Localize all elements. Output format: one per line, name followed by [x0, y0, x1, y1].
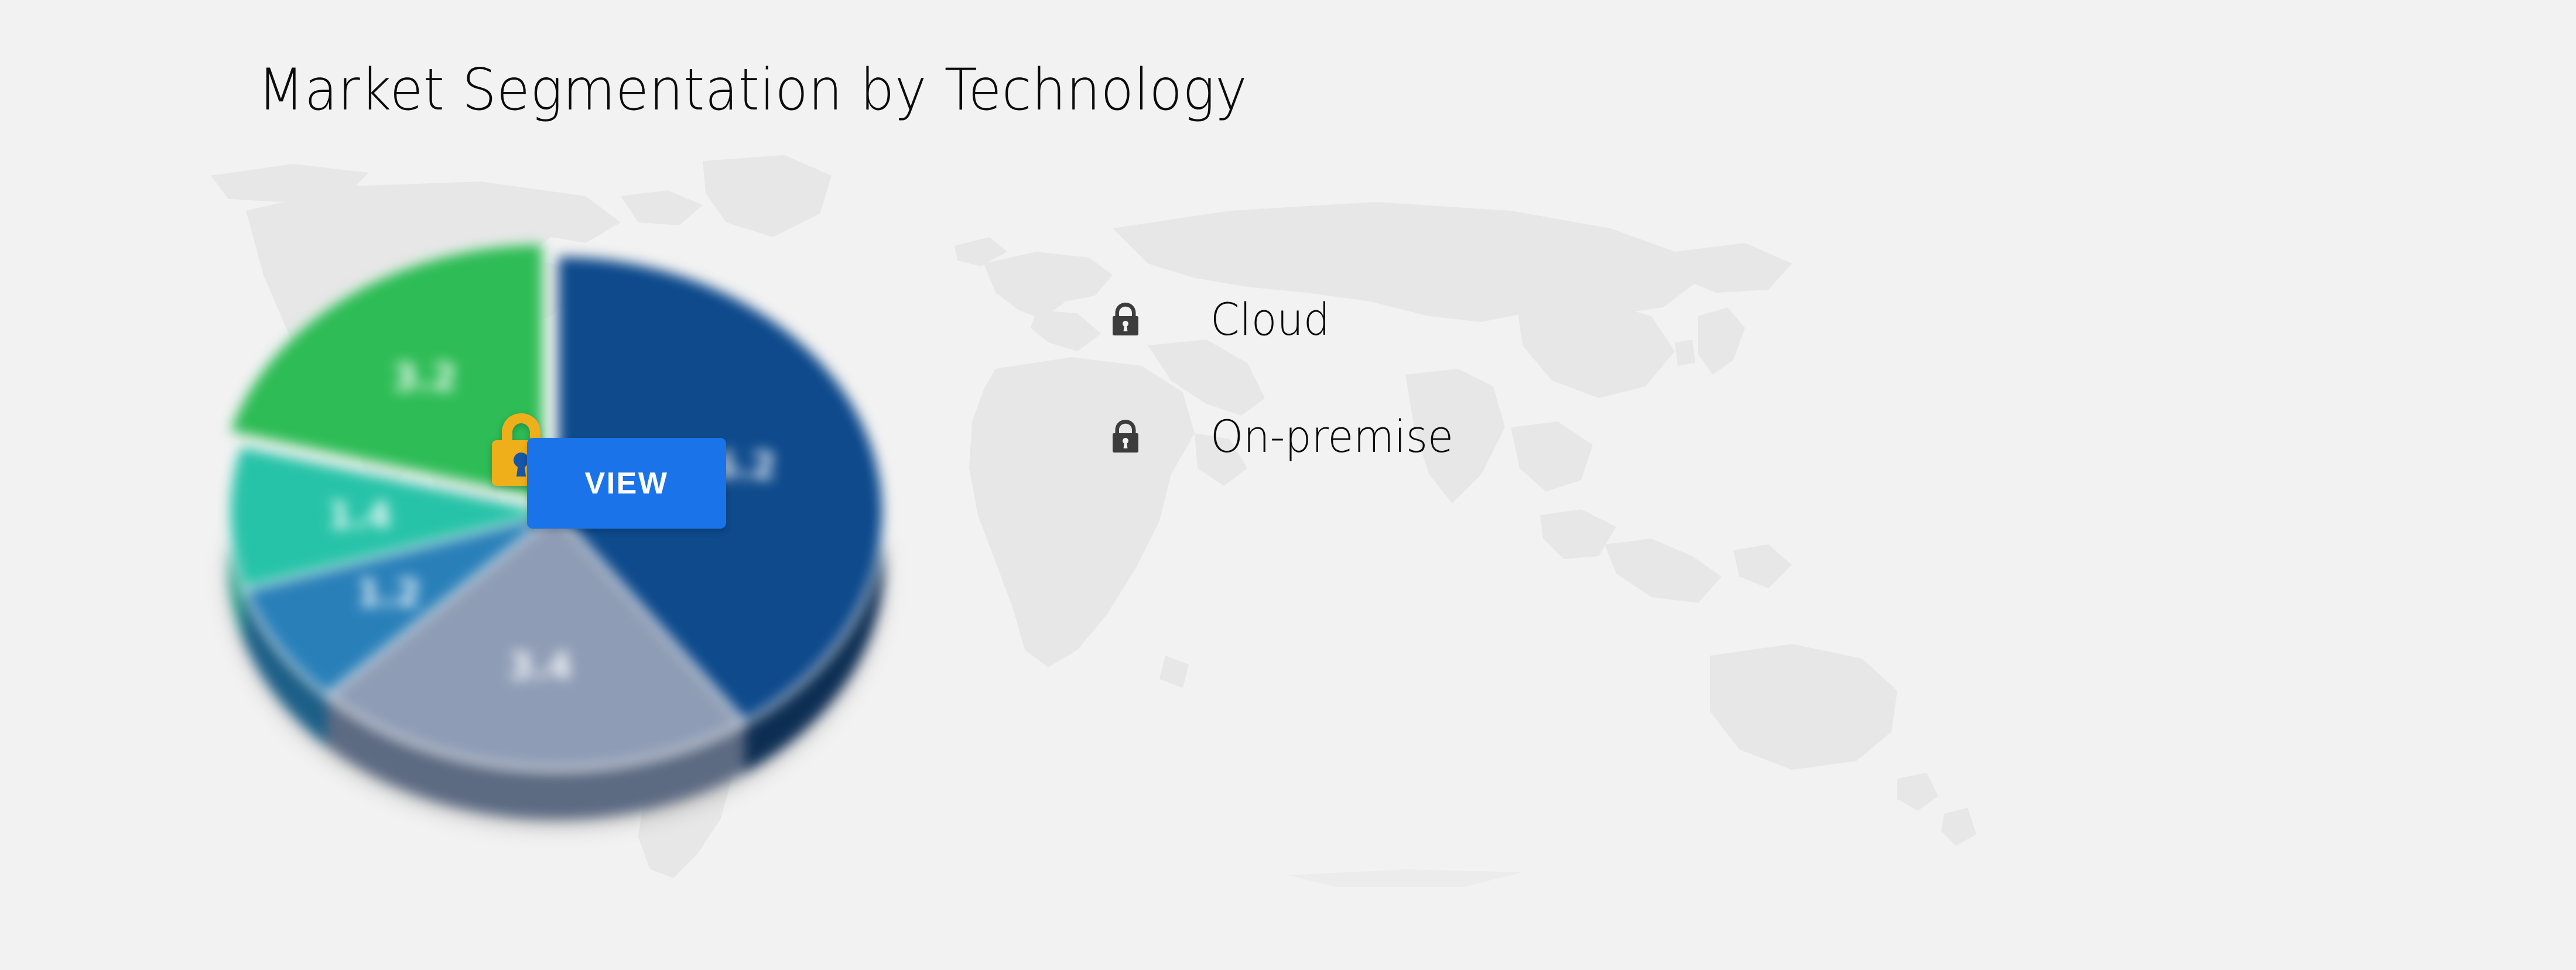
- legend-label-on-premise: On-premise: [1210, 410, 1453, 462]
- chart-card: Market Segmentation by Technology 6.23.4…: [0, 0, 2576, 970]
- pie-slice-label: 1.4: [327, 494, 392, 537]
- legend: Cloud On-premise: [1110, 290, 1812, 524]
- legend-item-cloud[interactable]: Cloud: [1110, 290, 1812, 348]
- lock-icon: [1110, 419, 1141, 454]
- view-button[interactable]: VIEW: [527, 438, 726, 529]
- legend-item-on-premise[interactable]: On-premise: [1110, 407, 1812, 465]
- lock-icon: [1110, 301, 1141, 337]
- paywall-overlay[interactable]: VIEW: [486, 410, 732, 562]
- legend-label-cloud: Cloud: [1210, 293, 1330, 345]
- pie-slice-label: 3.2: [392, 356, 457, 399]
- page-title: Market Segmentation by Technology: [258, 61, 1247, 119]
- view-button-label: VIEW: [585, 466, 669, 501]
- pie-slice-label: 1.2: [357, 572, 421, 615]
- pie-slice-label: 3.4: [508, 645, 573, 688]
